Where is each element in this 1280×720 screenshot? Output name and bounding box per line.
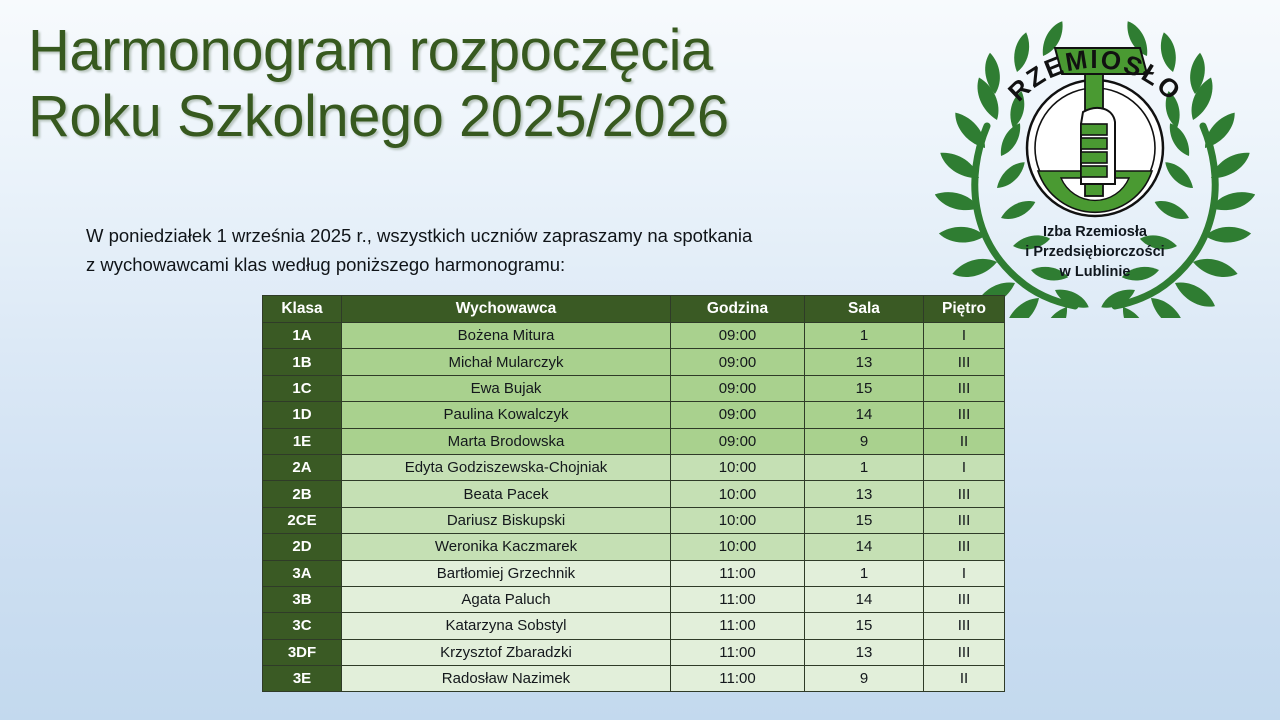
cell-klasa: 1E bbox=[263, 428, 342, 454]
cell-klasa: 3A bbox=[263, 560, 342, 586]
cell-wychowawca: Marta Brodowska bbox=[342, 428, 671, 454]
cell-pietro: III bbox=[924, 534, 1005, 560]
column-header-wychowawca: Wychowawca bbox=[342, 296, 671, 323]
intro-line-1: W poniedziałek 1 września 2025 r., wszys… bbox=[86, 225, 752, 246]
cell-wychowawca: Paulina Kowalczyk bbox=[342, 402, 671, 428]
cell-sala: 14 bbox=[805, 586, 924, 612]
organization-logo: RZEMIOSŁO Izba Rzemiosła i Przedsiębiorc… bbox=[935, 8, 1255, 318]
table-row: 3BAgata Paluch11:0014III bbox=[263, 586, 1005, 612]
cell-godzina: 11:00 bbox=[671, 613, 805, 639]
cell-klasa: 3C bbox=[263, 613, 342, 639]
cell-godzina: 11:00 bbox=[671, 639, 805, 665]
cell-godzina: 10:00 bbox=[671, 481, 805, 507]
cell-wychowawca: Dariusz Biskupski bbox=[342, 507, 671, 533]
cell-sala: 1 bbox=[805, 560, 924, 586]
table-row: 3ERadosław Nazimek11:009II bbox=[263, 666, 1005, 692]
cell-wychowawca: Agata Paluch bbox=[342, 586, 671, 612]
table-row: 2DWeronika Kaczmarek10:0014III bbox=[263, 534, 1005, 560]
cell-klasa: 3E bbox=[263, 666, 342, 692]
schedule-table: Klasa Wychowawca Godzina Sala Piętro 1AB… bbox=[262, 295, 1005, 692]
cell-klasa: 1A bbox=[263, 323, 342, 349]
cell-wychowawca: Beata Pacek bbox=[342, 481, 671, 507]
cell-sala: 9 bbox=[805, 428, 924, 454]
cell-wychowawca: Radosław Nazimek bbox=[342, 666, 671, 692]
cell-godzina: 10:00 bbox=[671, 534, 805, 560]
table-row: 2CEDariusz Biskupski10:0015III bbox=[263, 507, 1005, 533]
cell-pietro: II bbox=[924, 666, 1005, 692]
cell-pietro: III bbox=[924, 613, 1005, 639]
logo-caption-line-3: w Lublinie bbox=[1059, 264, 1131, 280]
cell-pietro: III bbox=[924, 375, 1005, 401]
cell-sala: 13 bbox=[805, 481, 924, 507]
cell-pietro: I bbox=[924, 323, 1005, 349]
cell-wychowawca: Edyta Godziszewska-Chojniak bbox=[342, 454, 671, 480]
cell-pietro: I bbox=[924, 454, 1005, 480]
table-row: 1CEwa Bujak09:0015III bbox=[263, 375, 1005, 401]
schedule-table-container: Klasa Wychowawca Godzina Sala Piętro 1AB… bbox=[262, 295, 1004, 692]
column-header-godzina: Godzina bbox=[671, 296, 805, 323]
column-header-klasa: Klasa bbox=[263, 296, 342, 323]
cell-pietro: I bbox=[924, 560, 1005, 586]
logo-caption-line-1: Izba Rzemiosła bbox=[1043, 224, 1148, 240]
cell-sala: 15 bbox=[805, 613, 924, 639]
cell-pietro: III bbox=[924, 349, 1005, 375]
cell-wychowawca: Krzysztof Zbaradzki bbox=[342, 639, 671, 665]
cell-godzina: 11:00 bbox=[671, 586, 805, 612]
column-header-pietro: Piętro bbox=[924, 296, 1005, 323]
cell-sala: 9 bbox=[805, 666, 924, 692]
cell-wychowawca: Weronika Kaczmarek bbox=[342, 534, 671, 560]
cell-pietro: III bbox=[924, 402, 1005, 428]
table-row: 1DPaulina Kowalczyk09:0014III bbox=[263, 402, 1005, 428]
table-row: 3ABartłomiej Grzechnik11:001I bbox=[263, 560, 1005, 586]
cell-klasa: 2D bbox=[263, 534, 342, 560]
cell-godzina: 10:00 bbox=[671, 507, 805, 533]
cell-godzina: 09:00 bbox=[671, 402, 805, 428]
cell-sala: 1 bbox=[805, 454, 924, 480]
table-row: 2AEdyta Godziszewska-Chojniak10:001I bbox=[263, 454, 1005, 480]
cell-wychowawca: Bartłomiej Grzechnik bbox=[342, 560, 671, 586]
craft-emblem-icon: RZEMIOSŁO bbox=[1002, 44, 1188, 216]
cell-godzina: 11:00 bbox=[671, 666, 805, 692]
cell-pietro: III bbox=[924, 639, 1005, 665]
cell-sala: 15 bbox=[805, 375, 924, 401]
cell-pietro: III bbox=[924, 481, 1005, 507]
cell-godzina: 09:00 bbox=[671, 349, 805, 375]
cell-sala: 14 bbox=[805, 534, 924, 560]
intro-paragraph: W poniedziałek 1 września 2025 r., wszys… bbox=[86, 222, 916, 279]
table-row: 1EMarta Brodowska09:009II bbox=[263, 428, 1005, 454]
cell-klasa: 3B bbox=[263, 586, 342, 612]
cell-godzina: 09:00 bbox=[671, 375, 805, 401]
cell-wychowawca: Michał Mularczyk bbox=[342, 349, 671, 375]
logo-caption-line-2: i Przedsiębiorczości bbox=[1025, 244, 1164, 260]
cell-klasa: 2B bbox=[263, 481, 342, 507]
table-row: 1BMichał Mularczyk09:0013III bbox=[263, 349, 1005, 375]
cell-klasa: 1D bbox=[263, 402, 342, 428]
table-header-row: Klasa Wychowawca Godzina Sala Piętro bbox=[263, 296, 1005, 323]
page-title: Harmonogram rozpoczęcia Roku Szkolnego 2… bbox=[28, 18, 928, 149]
intro-line-2: z wychowawcami klas według poniższego ha… bbox=[86, 251, 916, 280]
cell-pietro: III bbox=[924, 586, 1005, 612]
cell-sala: 15 bbox=[805, 507, 924, 533]
cell-klasa: 1C bbox=[263, 375, 342, 401]
table-row: 2BBeata Pacek10:0013III bbox=[263, 481, 1005, 507]
table-row: 3DFKrzysztof Zbaradzki11:0013III bbox=[263, 639, 1005, 665]
cell-pietro: II bbox=[924, 428, 1005, 454]
cell-klasa: 3DF bbox=[263, 639, 342, 665]
cell-godzina: 09:00 bbox=[671, 428, 805, 454]
cell-klasa: 2A bbox=[263, 454, 342, 480]
cell-sala: 13 bbox=[805, 349, 924, 375]
title-line-1: Harmonogram rozpoczęcia bbox=[28, 18, 928, 84]
cell-wychowawca: Ewa Bujak bbox=[342, 375, 671, 401]
cell-godzina: 11:00 bbox=[671, 560, 805, 586]
cell-wychowawca: Katarzyna Sobstyl bbox=[342, 613, 671, 639]
column-header-sala: Sala bbox=[805, 296, 924, 323]
cell-sala: 14 bbox=[805, 402, 924, 428]
cell-klasa: 2CE bbox=[263, 507, 342, 533]
title-line-2: Roku Szkolnego 2025/2026 bbox=[28, 84, 928, 150]
cell-pietro: III bbox=[924, 507, 1005, 533]
table-row: 3CKatarzyna Sobstyl11:0015III bbox=[263, 613, 1005, 639]
cell-sala: 13 bbox=[805, 639, 924, 665]
cell-godzina: 10:00 bbox=[671, 454, 805, 480]
cell-klasa: 1B bbox=[263, 349, 342, 375]
table-row: 1ABożena Mitura09:001I bbox=[263, 323, 1005, 349]
cell-godzina: 09:00 bbox=[671, 323, 805, 349]
cell-wychowawca: Bożena Mitura bbox=[342, 323, 671, 349]
cell-sala: 1 bbox=[805, 323, 924, 349]
